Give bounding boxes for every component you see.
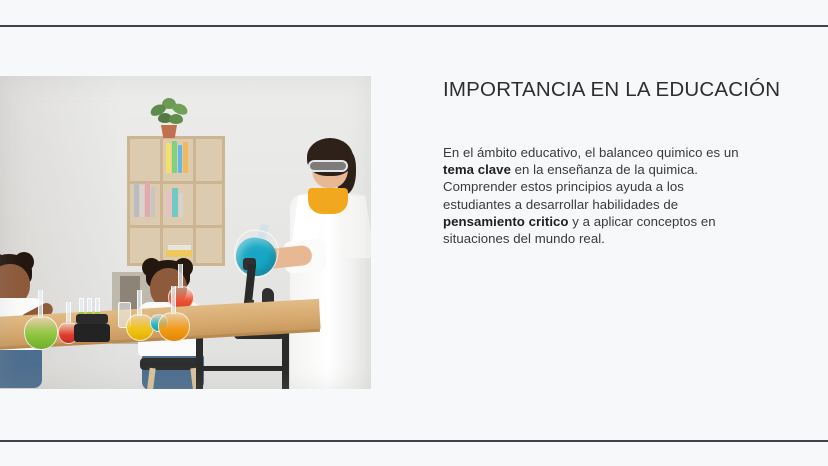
shelf-book	[172, 141, 177, 173]
slide-canvas: IMPORTANCIA EN LA EDUCACIÓN En el ámbito…	[0, 27, 828, 440]
shelf-book	[179, 193, 183, 217]
yellow-flask-neck	[137, 290, 142, 316]
test-tube-rack	[76, 314, 108, 324]
photo-plant-foliage	[148, 98, 190, 128]
shelf-divider	[160, 139, 163, 263]
table-rail	[196, 366, 288, 371]
shelf-book	[183, 142, 188, 173]
shelf-book	[145, 182, 150, 217]
orange-flask	[158, 312, 190, 342]
test-tube-rack	[74, 324, 110, 342]
shelf-divider	[130, 181, 222, 184]
orange-flask-neck	[171, 286, 176, 314]
plant-leaf	[169, 114, 183, 124]
photo-plant-pot	[161, 125, 177, 138]
shelf-divider	[193, 139, 196, 263]
shelf-book	[166, 191, 171, 217]
child-left-jeans	[0, 348, 42, 388]
teacher-yellow-collar	[308, 188, 348, 214]
shelf-book-stacked	[166, 250, 192, 257]
shelf-book	[140, 185, 144, 217]
body-text-run: En el ámbito educativo, el balanceo quim…	[443, 145, 739, 160]
red-flask-neck	[178, 264, 183, 288]
shelf-book	[134, 183, 139, 217]
shelf-book	[178, 145, 182, 173]
photo-bookshelf	[127, 136, 225, 266]
safety-goggles-icon	[308, 160, 348, 172]
body-emphasis: pensamiento critico	[443, 214, 569, 229]
slide-heading: IMPORTANCIA EN LA EDUCACIÓN	[443, 78, 783, 103]
red-flask-neck	[66, 302, 71, 324]
green-flask-neck	[38, 290, 43, 318]
slide-body-paragraph: En el ámbito educativo, el balanceo quim…	[443, 144, 749, 247]
table-leg	[196, 338, 203, 389]
bottom-margin-strip	[0, 442, 828, 466]
green-flask	[24, 316, 58, 350]
shelf-divider	[130, 225, 222, 228]
table-leg	[282, 332, 289, 389]
shelf-book	[172, 188, 178, 217]
top-margin-strip	[0, 0, 828, 25]
shelf-book	[151, 187, 155, 217]
shelf-book	[166, 143, 171, 173]
body-emphasis: tema clave	[443, 162, 511, 177]
classroom-photo	[0, 76, 371, 389]
